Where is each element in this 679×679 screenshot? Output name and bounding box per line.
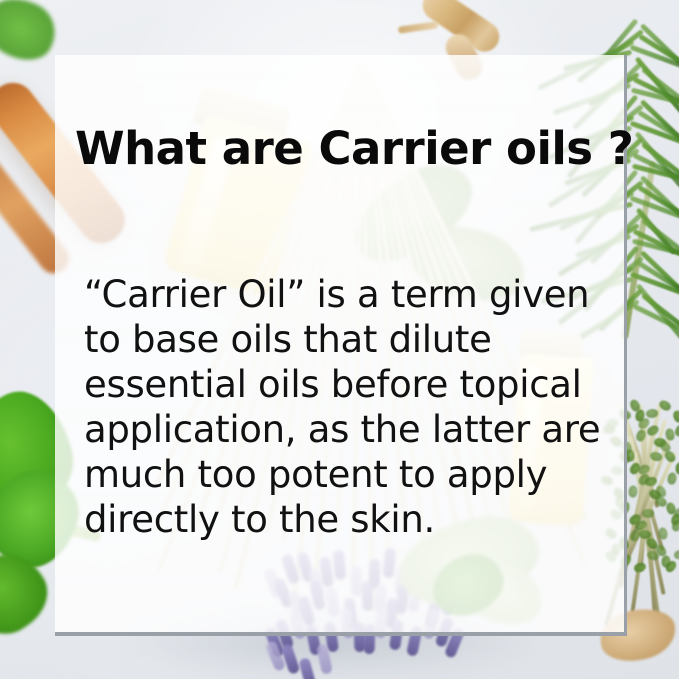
body-line: to base oils that dilute <box>84 317 604 362</box>
thyme-leaf <box>673 550 679 560</box>
infographic-canvas: What are Carrier oils ? “Carrier Oil” is… <box>0 0 679 679</box>
body-line: directly to the skin. <box>84 497 604 542</box>
thyme-leaf <box>673 410 679 423</box>
body-paragraph: “Carrier Oil” is a term givento base oil… <box>84 272 604 542</box>
lavender-bud <box>298 657 316 679</box>
thyme-leaf <box>627 485 639 499</box>
lavender-bud <box>280 643 300 675</box>
thyme-leaf <box>666 428 675 440</box>
body-line: “Carrier Oil” is a term given <box>84 272 604 317</box>
thyme-leaf <box>659 528 668 540</box>
body-line: application, as the latter are <box>84 407 604 452</box>
thyme-leaf <box>644 477 656 486</box>
body-line: essential oils before topical <box>84 362 604 407</box>
page-title: What are Carrier oils ? <box>75 122 633 175</box>
thyme-leaf <box>633 562 646 573</box>
body-line: much too potent to apply <box>84 452 604 497</box>
